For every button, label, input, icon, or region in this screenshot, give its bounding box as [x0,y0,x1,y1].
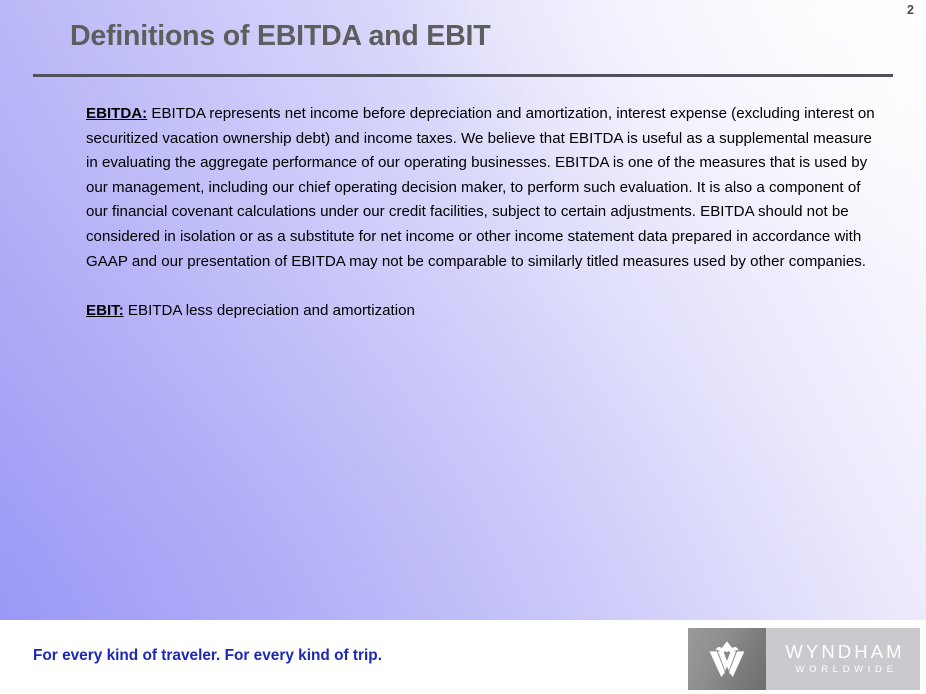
page-number: 2 [907,3,914,17]
logo-company-name: WYNDHAM [785,642,904,661]
presentation-slide: 2 Definitions of EBITDA and EBIT EBITDA:… [0,0,926,694]
body-content: EBITDA: EBITDA represents net income bef… [86,102,886,323]
term-ebitda: EBITDA: [86,105,147,122]
definition-ebit: EBITDA less depreciation and amortizatio… [124,302,415,319]
title-divider [33,74,893,77]
wyndham-crown-w-icon [688,628,766,690]
definition-ebitda: EBITDA represents net income before depr… [86,105,875,270]
logo-company-subtitle: WORLDWIDE [792,664,897,676]
wyndham-worldwide-logo: WYNDHAM WORLDWIDE [688,628,920,690]
footer-tagline: For every kind of traveler. For every ki… [33,647,382,665]
paragraph-ebitda: EBITDA: EBITDA represents net income bef… [86,102,886,274]
page-title: Definitions of EBITDA and EBIT [70,20,490,53]
paragraph-ebit: EBIT: EBITDA less depreciation and amort… [86,299,886,324]
term-ebit: EBIT: [86,302,124,319]
wyndham-wordmark: WYNDHAM WORLDWIDE [766,628,920,690]
